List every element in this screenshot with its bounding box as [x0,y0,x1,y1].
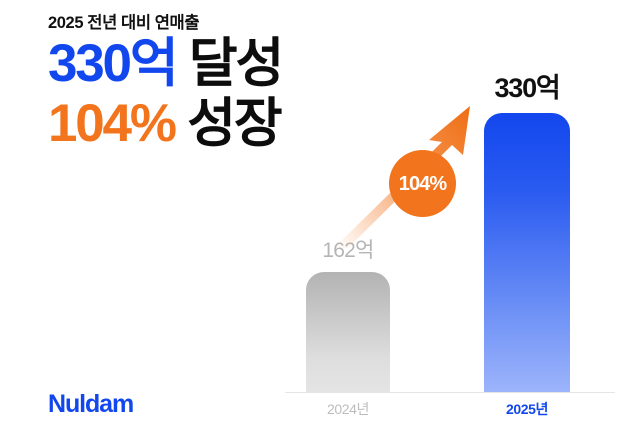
growth-badge-label: 104% [399,174,447,194]
infographic-canvas: 2025 전년 대비 연매출 330억 달성 104% 성장 Nuldam 16… [0,0,632,440]
bar-value-label-2024: 162억 [306,234,390,264]
headline-line-2-suffix: 성장 [175,94,281,153]
axis-label-2025: 2025년 [484,399,570,419]
axis-label-2024: 2024년 [306,399,390,419]
bar-chart: 162억 2024년 330억 2025년 104% [270,40,622,430]
eyebrow-text: 2025 전년 대비 연매출 [48,12,388,34]
brand-logo: Nuldam [48,390,133,418]
bar-column-2025: 330억 2025년 [484,40,570,430]
bar-value-label-2025: 330억 [484,66,570,105]
headline-revenue-value: 330억 [48,34,176,93]
bar-column-2024: 162억 2024년 [306,40,390,430]
bar-2025 [484,113,570,392]
bar-2024 [306,272,390,392]
growth-badge: 104% [389,150,456,217]
headline-growth-value: 104% [48,94,175,153]
headline-line-1-suffix: 달성 [176,34,282,93]
